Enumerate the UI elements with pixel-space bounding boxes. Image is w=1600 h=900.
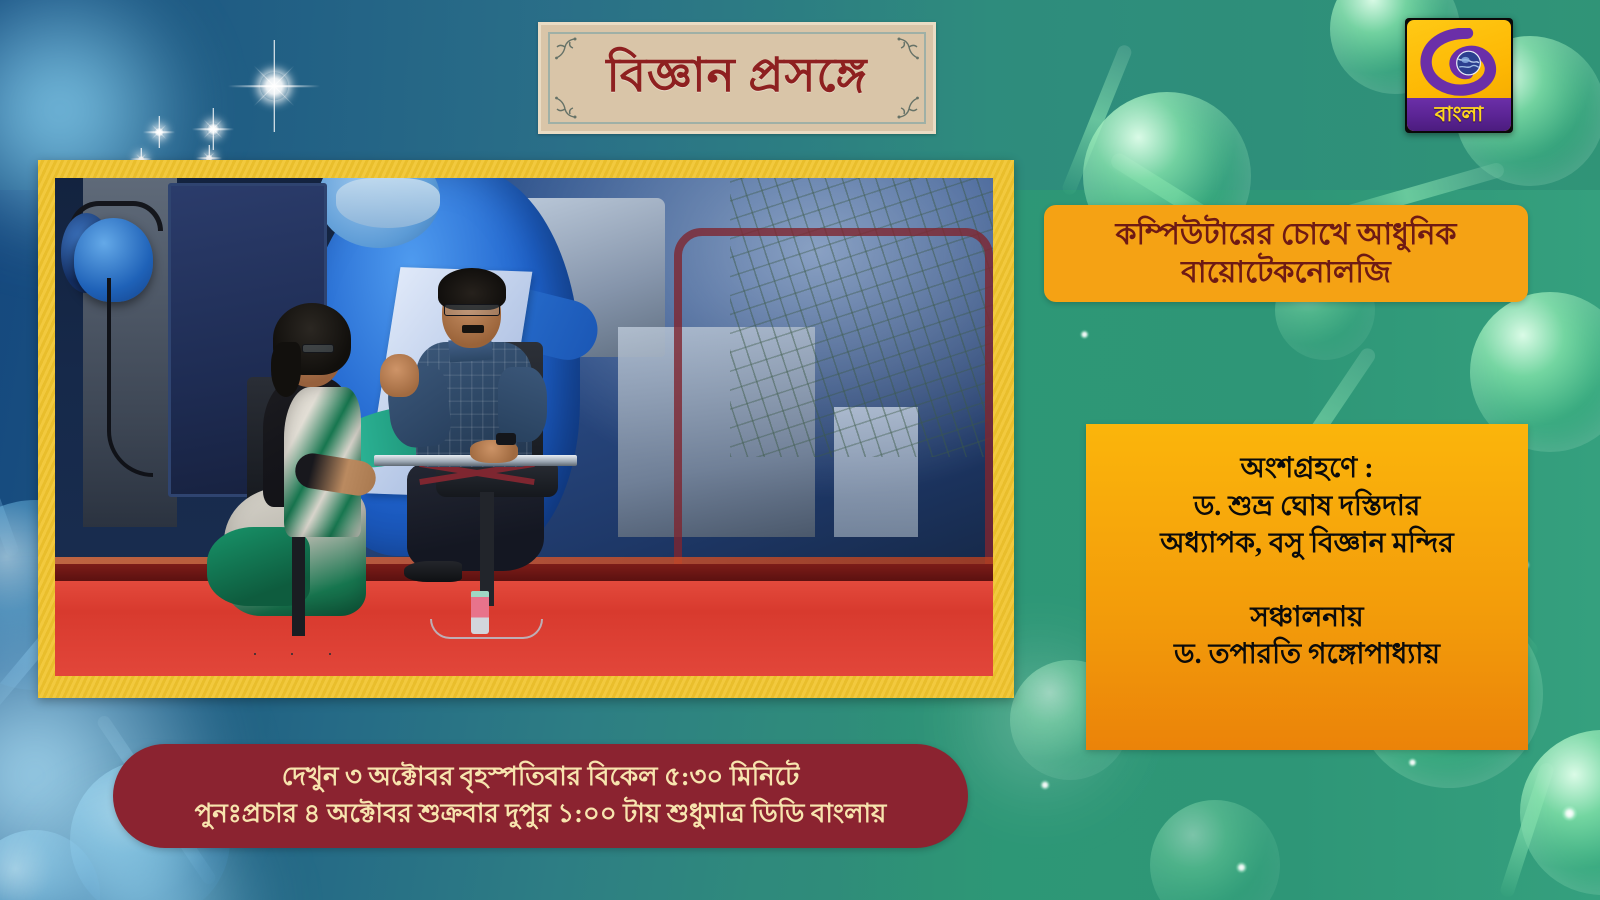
ppe-face-mask	[336, 178, 439, 228]
guest-gesturing-hand	[380, 354, 419, 397]
schedule-airing-line: দেখুন ৩ অক্টোবর বৃহস্পতিবার বিকেল ৫:৩০ ম…	[282, 759, 800, 796]
host-name: ড. তপারতি গঙ্গোপাধ্যায়	[1174, 636, 1440, 674]
particle-dot	[1562, 806, 1577, 821]
topic-line-1: কম্পিউটারের চোখে আধুনিক	[1116, 218, 1457, 251]
episode-topic-box: কম্পিউটারের চোখে আধুনিক বায়োটেকনোলজি	[1044, 205, 1528, 302]
guest-chair-stem	[480, 492, 494, 607]
studio-still-image[interactable]	[55, 178, 993, 676]
stage-lip	[55, 564, 993, 581]
host-heading: সঞ্চালনায়	[1250, 599, 1363, 637]
program-title-banner: বিজ্ঞান প্রসঙ্গে	[538, 22, 936, 134]
schedule-repeat-line: পুনঃপ্রচার ৪ অক্টোবর শুক্রবার দুপুর ১:০০…	[195, 796, 887, 833]
guest-wristwatch	[496, 433, 517, 445]
chair-caster	[291, 653, 293, 655]
particle-dot	[1080, 330, 1089, 339]
dd-bangla-logo: বাংলা	[1405, 18, 1513, 133]
episode-topic-text: কম্পিউটারের চোখে আধুনিক বায়োটেকনোলজি	[1102, 216, 1471, 292]
doordarshan-eye-icon	[1416, 28, 1511, 96]
guest-moustache	[462, 325, 484, 332]
host-hair	[271, 342, 301, 397]
guest-shoe	[404, 561, 462, 582]
particle-dot	[1236, 862, 1247, 873]
chair-caster	[254, 653, 256, 655]
broadcast-schedule-box: দেখুন ৩ অক্টোবর বৃহস্পতিবার বিকেল ৫:৩০ ম…	[113, 744, 968, 848]
host-glasses	[302, 344, 334, 353]
video-preview-frame[interactable]	[38, 160, 1014, 698]
guest-name: ড. শুভ্র ঘোষ দস্তিদার	[1194, 488, 1421, 526]
guest-glasses	[444, 304, 499, 316]
participants-heading: অংশগ্রহণে :	[1240, 450, 1373, 488]
logo-label: বাংলা	[1435, 104, 1484, 125]
particle-dot	[1408, 758, 1417, 767]
logo-plate: বাংলা	[1407, 20, 1511, 131]
participants-box: অংশগ্রহণে : ড. শুভ্র ঘোষ দস্তিদার অধ্যাপ…	[1086, 424, 1528, 750]
guest-right-arm	[498, 367, 547, 442]
guest-chair-base	[430, 619, 543, 639]
guest-affiliation: অধ্যাপক, বসু বিজ্ঞান মন্দির	[1160, 525, 1454, 563]
backdrop-red-frame	[674, 228, 993, 597]
topic-line-2: বায়োটেকনোলজি	[1181, 256, 1391, 289]
studio-cable	[107, 278, 154, 477]
page-title: বিজ্ঞান প্রসঙ্গে	[541, 25, 933, 131]
chair-caster	[329, 653, 331, 655]
particle-dot	[1040, 780, 1050, 790]
host-chair-base	[252, 601, 346, 656]
logo-band: বাংলা	[1407, 98, 1511, 131]
